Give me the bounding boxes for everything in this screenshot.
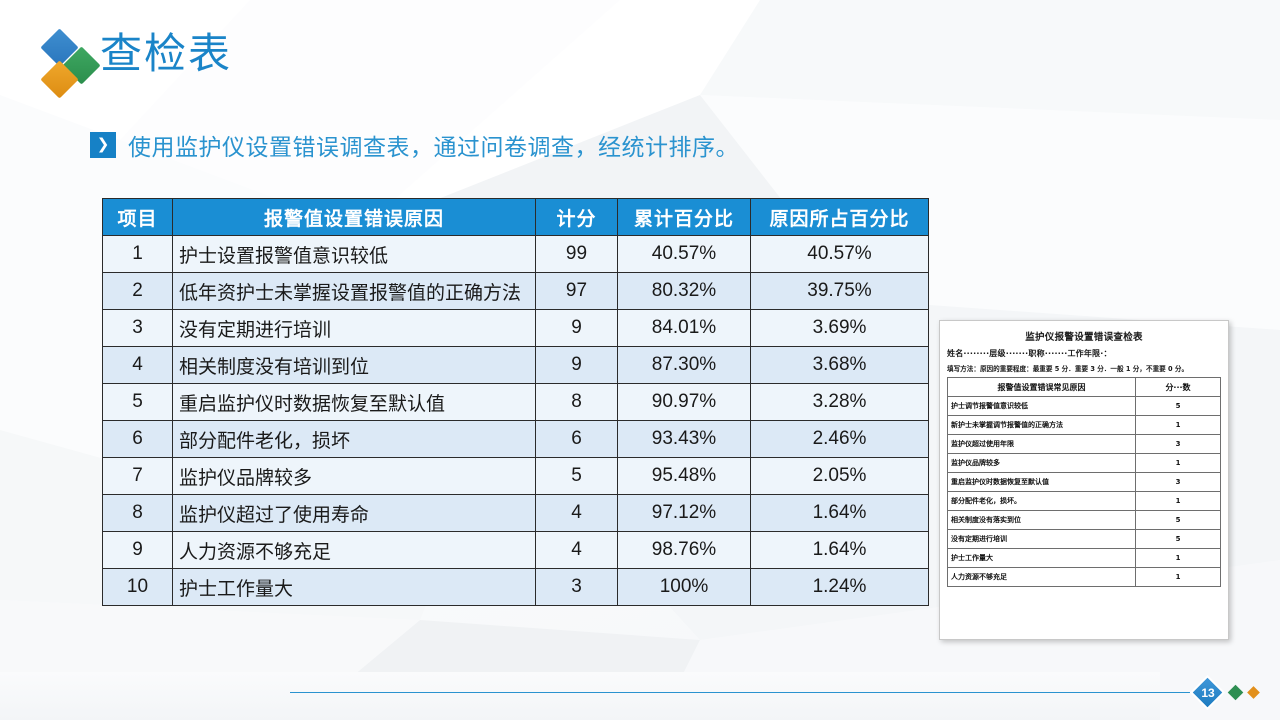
page-number-badge: 13: [1193, 678, 1223, 708]
table-row: 9 人力资源不够充足 4 98.76% 1.64%: [103, 532, 929, 569]
cell-percent: 2.05%: [751, 458, 929, 495]
cell-percent: 2.46%: [751, 421, 929, 458]
inset-cell-reason: 护士调节报警值意识较低: [948, 397, 1136, 416]
slide-canvas: 查检表 ❯ 使用监护仪设置错误调查表，通过问卷调查，经统计排序。 项目 报警值设…: [0, 0, 1280, 720]
cell-cumulative: 90.97%: [618, 384, 751, 421]
inset-cell-reason: 相关制度没有落实到位: [948, 511, 1136, 530]
cell-reason: 没有定期进行培训: [173, 310, 536, 347]
inset-title: 监护仪报警设置错误查检表: [947, 329, 1221, 343]
inset-cell-reason: 护士工作量大: [948, 549, 1136, 568]
inset-row: 相关制度没有落实到位 5: [948, 511, 1221, 530]
cell-percent: 1.64%: [751, 495, 929, 532]
inset-column-header-reason: 报警值设置错误常见原因: [948, 378, 1136, 397]
inset-cell-reason: 重启监护仪时数据恢复至默认值: [948, 473, 1136, 492]
cell-reason: 部分配件老化，损坏: [173, 421, 536, 458]
inset-cell-score: 1: [1136, 416, 1221, 435]
cell-cumulative: 87.30%: [618, 347, 751, 384]
cell-percent: 3.28%: [751, 384, 929, 421]
cell-item: 9: [103, 532, 173, 569]
cell-score: 6: [536, 421, 618, 458]
cell-item: 3: [103, 310, 173, 347]
inset-cell-score: 5: [1136, 397, 1221, 416]
cell-cumulative: 95.48%: [618, 458, 751, 495]
inset-row: 人力资源不够充足 1: [948, 568, 1221, 587]
inset-note: 填写方法：原因的重要程度：最重要 5 分．重要 3 分．一般 1 分，不重要 0…: [947, 363, 1221, 373]
inset-cell-score: 1: [1136, 568, 1221, 587]
inset-row: 监护仪超过使用年限 3: [948, 435, 1221, 454]
cell-reason: 监护仪品牌较多: [173, 458, 536, 495]
questionnaire-inset-image: 监护仪报警设置错误查检表 姓名········层级·······职称······…: [939, 320, 1229, 640]
table-row: 7 监护仪品牌较多 5 95.48% 2.05%: [103, 458, 929, 495]
inset-header-row: 报警值设置错误常见原因 分···数: [948, 378, 1221, 397]
inset-column-header-score: 分···数: [1136, 378, 1221, 397]
checklist-table: 项目 报警值设置错误原因 计分 累计百分比 原因所占百分比 1 护士设置报警值意…: [102, 198, 929, 606]
table-row: 5 重启监护仪时数据恢复至默认值 8 90.97% 3.28%: [103, 384, 929, 421]
inset-fields: 姓名········层级·······职称·······工作年限·：: [947, 348, 1221, 359]
cell-reason: 人力资源不够充足: [173, 532, 536, 569]
inset-cell-reason: 人力资源不够充足: [948, 568, 1136, 587]
column-header-reason: 报警值设置错误原因: [173, 199, 536, 236]
cell-reason: 低年资护士未掌握设置报警值的正确方法: [173, 273, 536, 310]
cell-item: 5: [103, 384, 173, 421]
cell-percent: 1.24%: [751, 569, 929, 606]
cell-item: 7: [103, 458, 173, 495]
inset-row: 新护士未掌握调节报警值的正确方法 1: [948, 416, 1221, 435]
cell-score: 97: [536, 273, 618, 310]
table-row: 6 部分配件老化，损坏 6 93.43% 2.46%: [103, 421, 929, 458]
footer-divider: [290, 692, 1190, 693]
table-header-row: 项目 报警值设置错误原因 计分 累计百分比 原因所占百分比: [103, 199, 929, 236]
cell-score: 4: [536, 532, 618, 569]
cell-cumulative: 97.12%: [618, 495, 751, 532]
inset-cell-score: 3: [1136, 435, 1221, 454]
inset-cell-reason: 新护士未掌握调节报警值的正确方法: [948, 416, 1136, 435]
chevron-right-icon: ❯: [90, 132, 116, 158]
inset-cell-reason: 监护仪超过使用年限: [948, 435, 1136, 454]
cell-cumulative: 80.32%: [618, 273, 751, 310]
cell-percent: 3.68%: [751, 347, 929, 384]
page-title: 查检表: [100, 28, 232, 81]
cell-item: 6: [103, 421, 173, 458]
cell-cumulative: 98.76%: [618, 532, 751, 569]
cell-item: 8: [103, 495, 173, 532]
cell-reason: 监护仪超过了使用寿命: [173, 495, 536, 532]
cell-cumulative: 40.57%: [618, 236, 751, 273]
inset-row: 重启监护仪时数据恢复至默认值 3: [948, 473, 1221, 492]
cell-item: 4: [103, 347, 173, 384]
inset-cell-score: 1: [1136, 549, 1221, 568]
cell-score: 5: [536, 458, 618, 495]
inset-cell-score: 5: [1136, 511, 1221, 530]
inset-row: 护士工作量大 1: [948, 549, 1221, 568]
cell-percent: 39.75%: [751, 273, 929, 310]
inset-row: 部分配件老化，损坏。 1: [948, 492, 1221, 511]
column-header-score: 计分: [536, 199, 618, 236]
cell-score: 4: [536, 495, 618, 532]
inset-row: 护士调节报警值意识较低 5: [948, 397, 1221, 416]
inset-cell-score: 3: [1136, 473, 1221, 492]
footer-band: [0, 672, 1160, 720]
inset-table-body: 护士调节报警值意识较低 5 新护士未掌握调节报警值的正确方法 1 监护仪超过使用…: [948, 397, 1221, 587]
table-row: 3 没有定期进行培训 9 84.01% 3.69%: [103, 310, 929, 347]
cell-cumulative: 100%: [618, 569, 751, 606]
cell-item: 10: [103, 569, 173, 606]
cell-reason: 相关制度没有培训到位: [173, 347, 536, 384]
cell-reason: 护士工作量大: [173, 569, 536, 606]
cell-percent: 3.69%: [751, 310, 929, 347]
inset-cell-reason: 没有定期进行培训: [948, 530, 1136, 549]
table-row: 10 护士工作量大 3 100% 1.24%: [103, 569, 929, 606]
inset-table: 报警值设置错误常见原因 分···数 护士调节报警值意识较低 5 新护士未掌握调节…: [947, 377, 1221, 587]
cell-score: 8: [536, 384, 618, 421]
inset-row: 没有定期进行培训 5: [948, 530, 1221, 549]
table-row: 8 监护仪超过了使用寿命 4 97.12% 1.64%: [103, 495, 929, 532]
cell-item: 2: [103, 273, 173, 310]
page-number: 13: [1193, 678, 1223, 708]
column-header-item: 项目: [103, 199, 173, 236]
table-row: 1 护士设置报警值意识较低 99 40.57% 40.57%: [103, 236, 929, 273]
inset-cell-score: 1: [1136, 454, 1221, 473]
subtitle-row: ❯ 使用监护仪设置错误调查表，通过问卷调查，经统计排序。: [90, 128, 739, 162]
logo-diamonds-icon: [44, 32, 106, 96]
cell-score: 3: [536, 569, 618, 606]
cell-percent: 1.64%: [751, 532, 929, 569]
inset-cell-reason: 部分配件老化，损坏。: [948, 492, 1136, 511]
checklist-table-container: 项目 报警值设置错误原因 计分 累计百分比 原因所占百分比 1 护士设置报警值意…: [102, 198, 928, 606]
inset-cell-reason: 监护仪品牌较多: [948, 454, 1136, 473]
inset-row: 监护仪品牌较多 1: [948, 454, 1221, 473]
cell-score: 9: [536, 310, 618, 347]
cell-reason: 护士设置报警值意识较低: [173, 236, 536, 273]
subtitle-text: 使用监护仪设置错误调查表，通过问卷调查，经统计排序。: [128, 128, 739, 162]
cell-item: 1: [103, 236, 173, 273]
checklist-table-body: 1 护士设置报警值意识较低 99 40.57% 40.57% 2 低年资护士未掌…: [103, 236, 929, 606]
cell-percent: 40.57%: [751, 236, 929, 273]
column-header-cumulative: 累计百分比: [618, 199, 751, 236]
cell-cumulative: 93.43%: [618, 421, 751, 458]
column-header-percent: 原因所占百分比: [751, 199, 929, 236]
inset-cell-score: 5: [1136, 530, 1221, 549]
cell-score: 9: [536, 347, 618, 384]
cell-reason: 重启监护仪时数据恢复至默认值: [173, 384, 536, 421]
cell-score: 99: [536, 236, 618, 273]
table-row: 4 相关制度没有培训到位 9 87.30% 3.68%: [103, 347, 929, 384]
cell-cumulative: 84.01%: [618, 310, 751, 347]
inset-cell-score: 1: [1136, 492, 1221, 511]
table-row: 2 低年资护士未掌握设置报警值的正确方法 97 80.32% 39.75%: [103, 273, 929, 310]
